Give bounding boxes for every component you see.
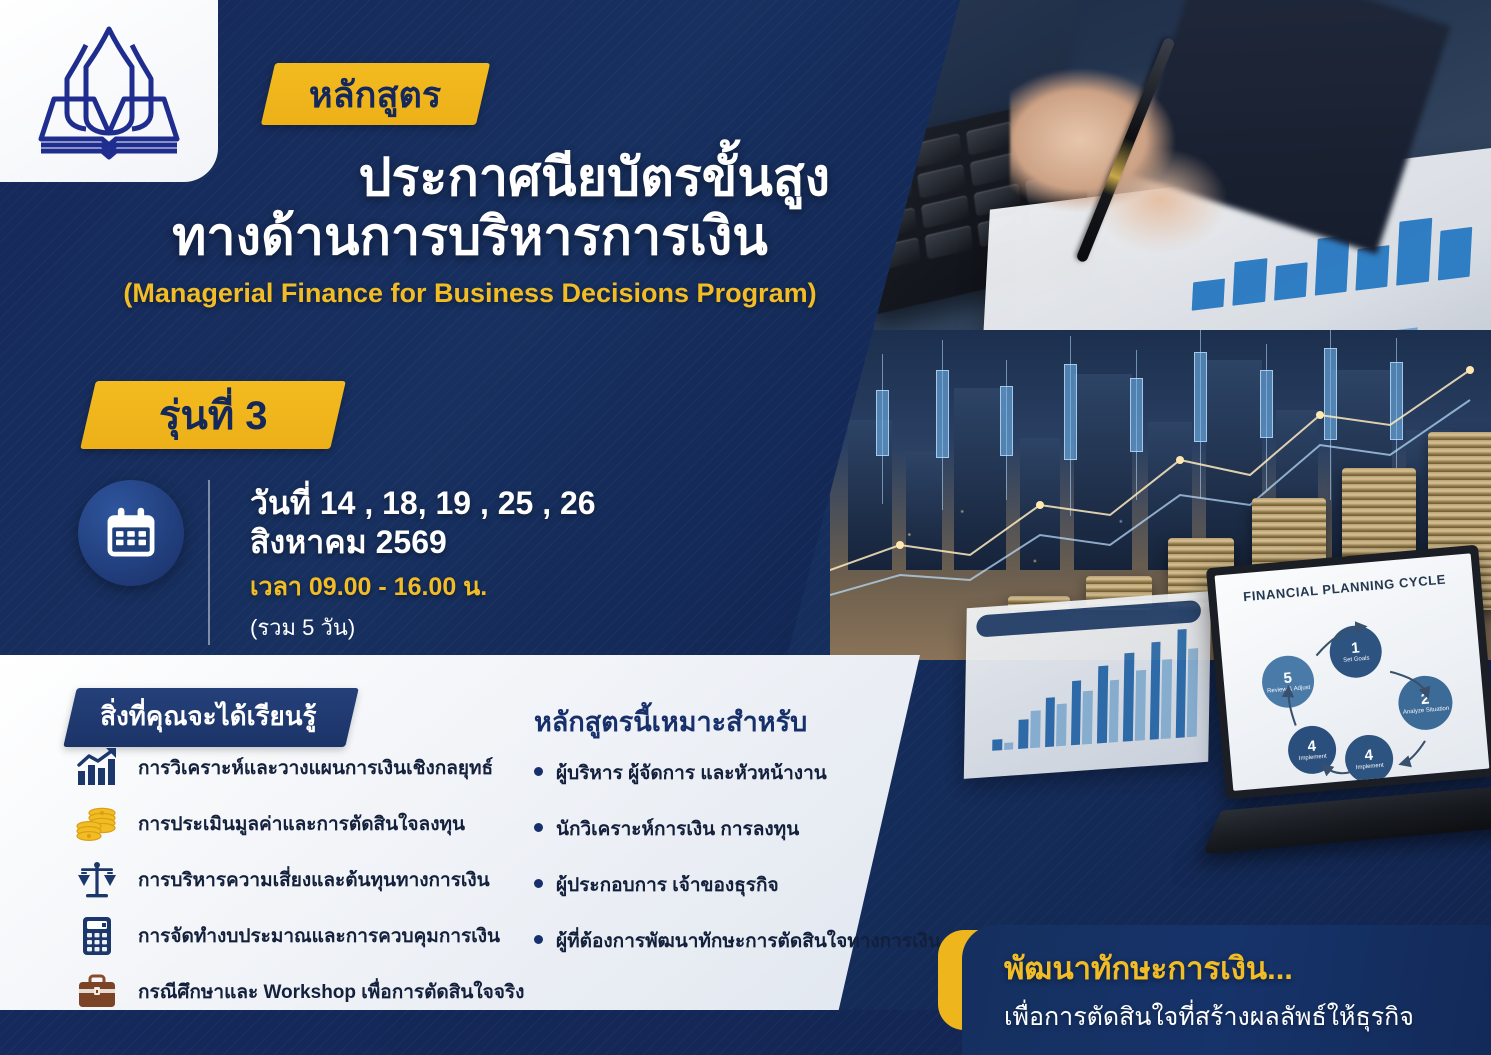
list-item-label: นักวิเคราะห์การเงิน การลงทุน [556, 814, 799, 844]
list-item-label: การวิเคราะห์และวางแผนการเงินเชิงกลยุทธ์ [138, 753, 493, 783]
course-badge-label: หลักสูตร [309, 66, 441, 123]
learn-list: การวิเคราะห์และวางแผนการเงินเชิงกลยุทธ์ [70, 740, 540, 1020]
list-item-label: การประเมินมูลค่าและการตัดสินใจลงทุน [138, 809, 465, 839]
list-item-label: การจัดทำงบประมาณและการควบคุมการเงิน [138, 921, 500, 951]
schedule-dates-line-2: สิงหาคม 2569 [250, 523, 596, 562]
schedule-block: วันที่ 14 , 18, 19 , 25 , 26 สิงหาคม 256… [78, 480, 596, 645]
schedule-total-days: (รวม 5 วัน) [250, 610, 596, 645]
page-title-line-1: ประกาศนียบัตรขั้นสูง [90, 150, 850, 207]
list-item-label: ผู้ประกอบการ เจ้าของธุรกิจ [556, 870, 779, 900]
list-item: การประเมินมูลค่าและการตัดสินใจลงทุน [70, 796, 540, 852]
schedule-texts: วันที่ 14 , 18, 19 , 25 , 26 สิงหาคม 256… [250, 480, 596, 645]
batch-badge: รุ่นที่ 3 [80, 381, 346, 449]
poster-root: FINANCIAL PLANNING CYCLE 1 Set Goals 2 A… [0, 0, 1491, 1055]
schedule-dates-line-1: วันที่ 14 , 18, 19 , 25 , 26 [250, 484, 596, 523]
balance-scales-icon [70, 857, 124, 903]
schedule-divider [208, 480, 210, 645]
calendar-icon-circle [78, 480, 184, 586]
schedule-time: เวลา 09.00 - 16.00 น. [250, 567, 596, 607]
list-item-label: ผู้ที่ต้องการพัฒนาทักษะการตัดสินใจทางการ… [556, 926, 941, 956]
list-item: การจัดทำงบประมาณและการควบคุมการเงิน [70, 908, 540, 964]
coins-stack-icon [70, 801, 124, 847]
footer-band: พัฒนาทักษะการเงิน... เพื่อการตัดสินใจที่… [962, 925, 1491, 1055]
list-item: นักวิเคราะห์การเงิน การลงทุน [534, 814, 924, 844]
list-item: ผู้ที่ต้องการพัฒนาทักษะการตัดสินใจทางการ… [534, 926, 924, 956]
open-book-lotus-emblem-icon [34, 21, 184, 161]
batch-badge-label: รุ่นที่ 3 [159, 383, 268, 447]
list-item-label: การบริหารความเสี่ยงและต้นทุนทางการเงิน [138, 865, 490, 895]
growth-bar-chart-icon [70, 745, 124, 791]
briefcase-icon [70, 969, 124, 1015]
list-item: ผู้บริหาร ผู้จัดการ และหัวหน้างาน [534, 758, 924, 788]
list-item: การบริหารความเสี่ยงและต้นทุนทางการเงิน [70, 852, 540, 908]
title-block: ประกาศนียบัตรขั้นสูง ทางด้านการบริหารการ… [90, 150, 850, 309]
calculator-icon [70, 913, 124, 959]
list-item: การวิเคราะห์และวางแผนการเงินเชิงกลยุทธ์ [70, 740, 540, 796]
audience-list: ผู้บริหาร ผู้จัดการ และหัวหน้างาน นักวิเ… [534, 758, 924, 982]
bullet-icon [534, 767, 543, 776]
list-item-label: กรณีศึกษาและ Workshop เพื่อการตัดสินใจจร… [138, 977, 524, 1007]
audience-heading: หลักสูตรนี้เหมาะสำหรับ [534, 700, 807, 743]
list-item-label: ผู้บริหาร ผู้จัดการ และหัวหน้างาน [556, 758, 827, 788]
list-item: ผู้ประกอบการ เจ้าของธุรกิจ [534, 870, 924, 900]
footer-line-1: พัฒนาทักษะการเงิน... [1004, 943, 1467, 993]
bullet-icon [534, 935, 543, 944]
learn-heading-badge: สิ่งที่คุณจะได้เรียนรู้ [63, 688, 359, 747]
learn-heading-label: สิ่งที่คุณจะได้เรียนรู้ [100, 696, 316, 737]
page-title-english: (Managerial Finance for Business Decisio… [90, 278, 850, 309]
page-title-line-2: ทางด้านการบริหารการเงิน [90, 209, 850, 266]
bullet-icon [534, 879, 543, 888]
footer-line-2: เพื่อการตัดสินใจที่สร้างผลลัพธ์ให้ธุรกิจ [1004, 997, 1467, 1037]
calendar-icon [101, 503, 161, 563]
bullet-icon [534, 823, 543, 832]
course-badge: หลักสูตร [261, 63, 490, 125]
